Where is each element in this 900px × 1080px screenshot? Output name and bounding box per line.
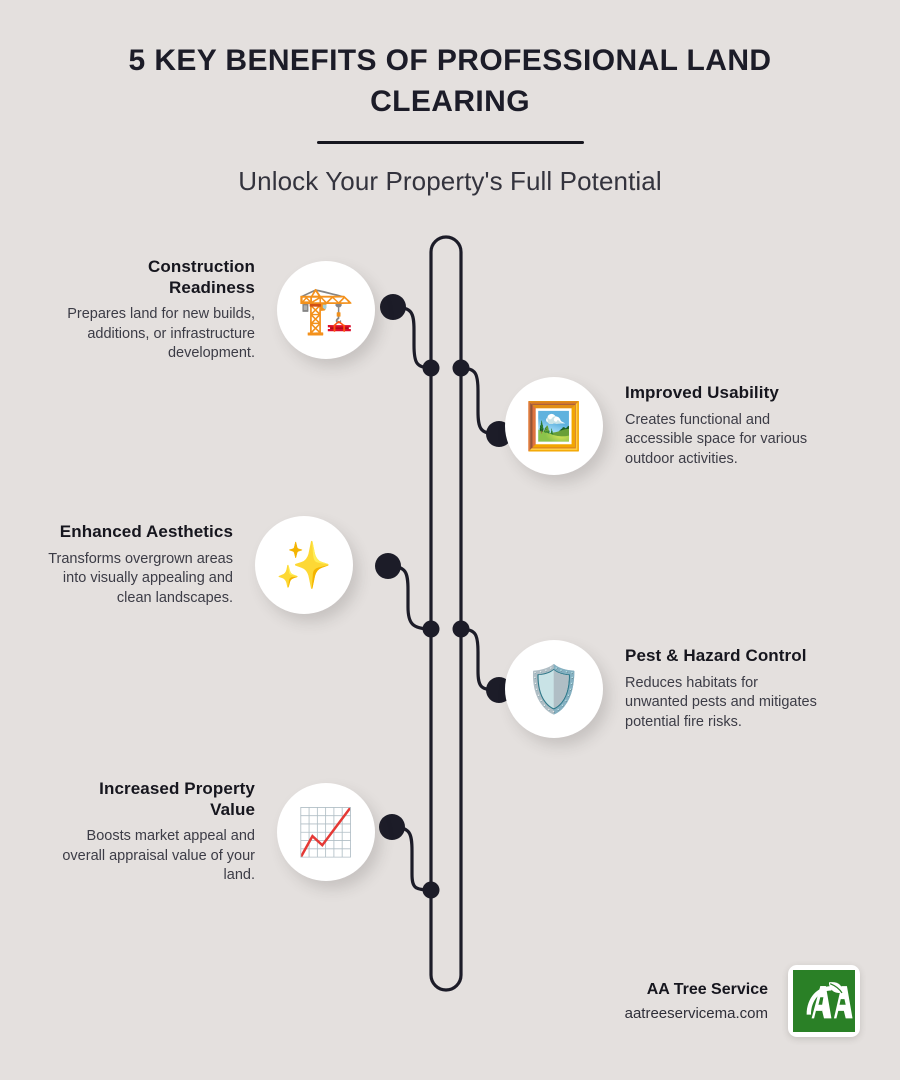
company-logo[interactable]	[788, 965, 860, 1037]
benefit-item-increased-property-value[interactable]: Increased Property Value Boosts market a…	[62, 779, 375, 885]
shield-icon: 🛡️	[505, 640, 603, 738]
brand-name: AA Tree Service	[625, 981, 768, 999]
page-title: 5 Key Benefits of Professional Land Clea…	[0, 40, 900, 123]
benefit-body: Prepares land for new builds, additions,…	[62, 305, 255, 363]
benefit-heading: Pest & Hazard Control	[625, 646, 818, 667]
benefit-heading: Enhanced Aesthetics	[40, 522, 233, 543]
chart-increasing-icon: 📈	[277, 783, 375, 881]
spine-loop	[431, 237, 461, 990]
benefit-heading: Improved Usability	[625, 383, 818, 404]
landscape-photo-icon: 🖼️	[505, 377, 603, 475]
benefit-item-enhanced-aesthetics[interactable]: Enhanced Aesthetics Transforms overgrown…	[40, 516, 353, 614]
page-subtitle: Unlock Your Property's Full Potential	[0, 166, 900, 197]
benefit-text-block: Increased Property Value Boosts market a…	[62, 779, 277, 885]
node-dot-small-4	[453, 621, 470, 638]
sparkles-icon: ✨	[255, 516, 353, 614]
branch-4	[461, 629, 497, 690]
node-dot-small-1	[423, 360, 440, 377]
benefit-item-construction-readiness[interactable]: Construction Readiness Prepares land for…	[62, 257, 375, 363]
logo-mark	[793, 970, 855, 1032]
node-dot-small-3	[423, 621, 440, 638]
benefit-text-block: Improved Usability Creates functional an…	[603, 383, 818, 469]
benefit-item-improved-usability[interactable]: 🖼️ Improved Usability Creates functional…	[505, 377, 860, 475]
aa-leaf-logo-icon	[793, 970, 855, 1032]
benefit-heading: Increased Property Value	[62, 779, 255, 820]
benefit-text-block: Pest & Hazard Control Reduces habitats f…	[603, 646, 818, 732]
branch-3	[388, 566, 431, 629]
node-dot-large-5	[379, 814, 405, 840]
benefit-item-pest-hazard-control[interactable]: 🛡️ Pest & Hazard Control Reduces habitat…	[505, 640, 860, 738]
header: 5 Key Benefits of Professional Land Clea…	[0, 40, 900, 197]
node-dot-small-2	[453, 360, 470, 377]
node-dot-large-1	[380, 294, 406, 320]
benefit-body: Reduces habitats for unwanted pests and …	[625, 674, 818, 732]
node-dot-large-3	[375, 553, 401, 579]
benefit-body: Creates functional and accessible space …	[625, 411, 818, 469]
benefit-heading: Construction Readiness	[62, 257, 255, 298]
brand-block: AA Tree Service aatreeservicema.com	[625, 981, 788, 1022]
footer: AA Tree Service aatreeservicema.com	[500, 965, 860, 1037]
title-divider	[317, 141, 584, 144]
branch-2	[461, 368, 497, 434]
construction-crane-icon: 🏗️	[277, 261, 375, 359]
brand-website[interactable]: aatreeservicema.com	[625, 1005, 768, 1022]
benefit-body: Boosts market appeal and overall apprais…	[62, 827, 255, 885]
infographic-page: 5 Key Benefits of Professional Land Clea…	[0, 0, 900, 1080]
branch-5	[392, 827, 431, 890]
benefit-text-block: Enhanced Aesthetics Transforms overgrown…	[40, 522, 255, 608]
benefit-text-block: Construction Readiness Prepares land for…	[62, 257, 277, 363]
benefit-body: Transforms overgrown areas into visually…	[40, 550, 233, 608]
branch-1	[394, 307, 431, 368]
node-dot-small-5	[423, 882, 440, 899]
